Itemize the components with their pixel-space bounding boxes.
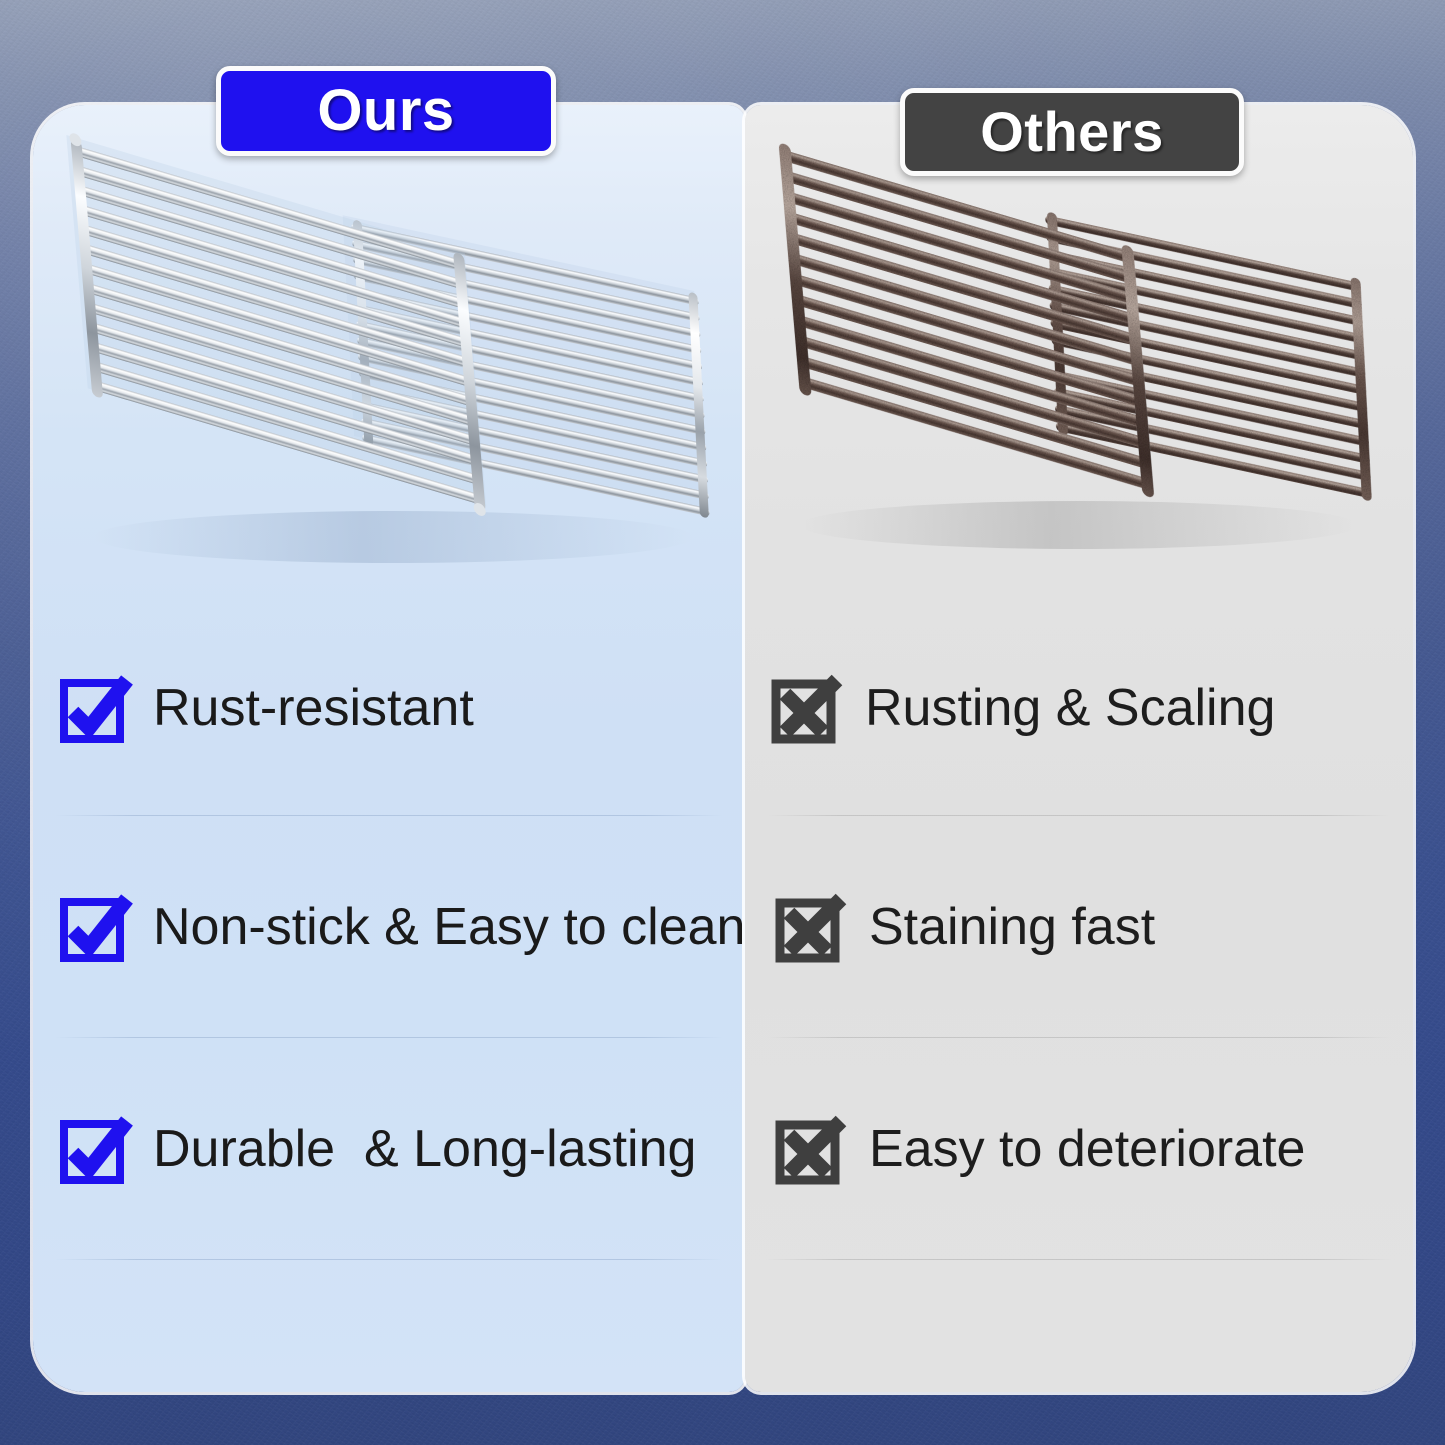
product-image-others bbox=[745, 105, 1413, 585]
checkbox-crossed-icon bbox=[775, 891, 847, 963]
feature-label: Non-stick & Easy to clean bbox=[153, 901, 745, 953]
checkbox-checked-icon bbox=[59, 1113, 131, 1185]
feature-label: Rusting & Scaling bbox=[865, 682, 1275, 734]
comparison-infographic: Rust-resistant Non-stick & Easy to clean bbox=[0, 0, 1445, 1445]
checkbox-checked-icon bbox=[59, 891, 131, 963]
panel-others: Rusting & Scaling Staining fast bbox=[745, 105, 1413, 1392]
panel-ours: Rust-resistant Non-stick & Easy to clean bbox=[33, 105, 745, 1392]
feature-row: Rust-resistant bbox=[33, 600, 745, 816]
feature-label: Durable & Long-lasting bbox=[153, 1123, 696, 1175]
feature-row: Easy to deteriorate bbox=[745, 1038, 1413, 1260]
feature-row: Rusting & Scaling bbox=[745, 600, 1413, 816]
badge-ours: Ours bbox=[216, 66, 556, 156]
checkbox-crossed-icon bbox=[771, 672, 843, 744]
badge-others-label: Others bbox=[980, 104, 1164, 160]
feature-label: Rust-resistant bbox=[153, 682, 474, 734]
feature-list-ours: Rust-resistant Non-stick & Easy to clean bbox=[33, 600, 745, 1260]
checkbox-crossed-icon bbox=[775, 1113, 847, 1185]
feature-list-others: Rusting & Scaling Staining fast bbox=[745, 600, 1413, 1260]
feature-row: Staining fast bbox=[745, 816, 1413, 1038]
product-image-ours bbox=[33, 105, 745, 585]
checkbox-checked-icon bbox=[59, 672, 131, 744]
feature-label: Staining fast bbox=[869, 901, 1155, 953]
feature-label: Easy to deteriorate bbox=[869, 1123, 1305, 1175]
feature-row: Durable & Long-lasting bbox=[33, 1038, 745, 1260]
feature-row: Non-stick & Easy to clean bbox=[33, 816, 745, 1038]
badge-ours-label: Ours bbox=[317, 82, 454, 140]
badge-others: Others bbox=[900, 88, 1244, 176]
